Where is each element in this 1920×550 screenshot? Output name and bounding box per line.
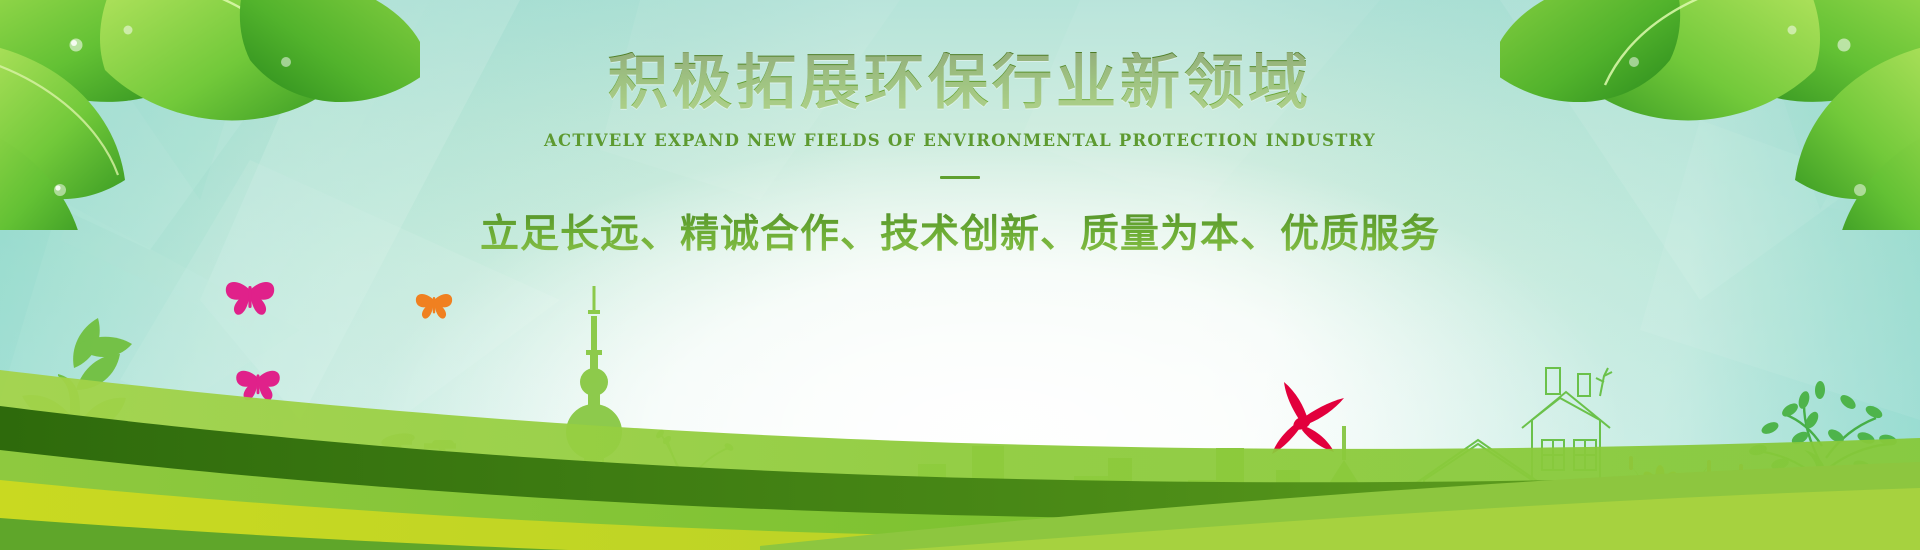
banner-text-block: 积极拓展环保行业新领域 ACTIVELY EXPAND NEW FIELDS O… [0,52,1920,259]
banner-headline: 积极拓展环保行业新领域 [0,52,1920,115]
title-divider [940,176,980,179]
ribbon-waves [0,310,1920,550]
eco-banner: 积极拓展环保行业新领域 ACTIVELY EXPAND NEW FIELDS O… [0,0,1920,550]
banner-subheadline: ACTIVELY EXPAND NEW FIELDS OF ENVIRONMEN… [0,131,1920,150]
banner-slogan: 立足长远、精诚合作、技术创新、质量为本、优质服务 [0,203,1920,259]
